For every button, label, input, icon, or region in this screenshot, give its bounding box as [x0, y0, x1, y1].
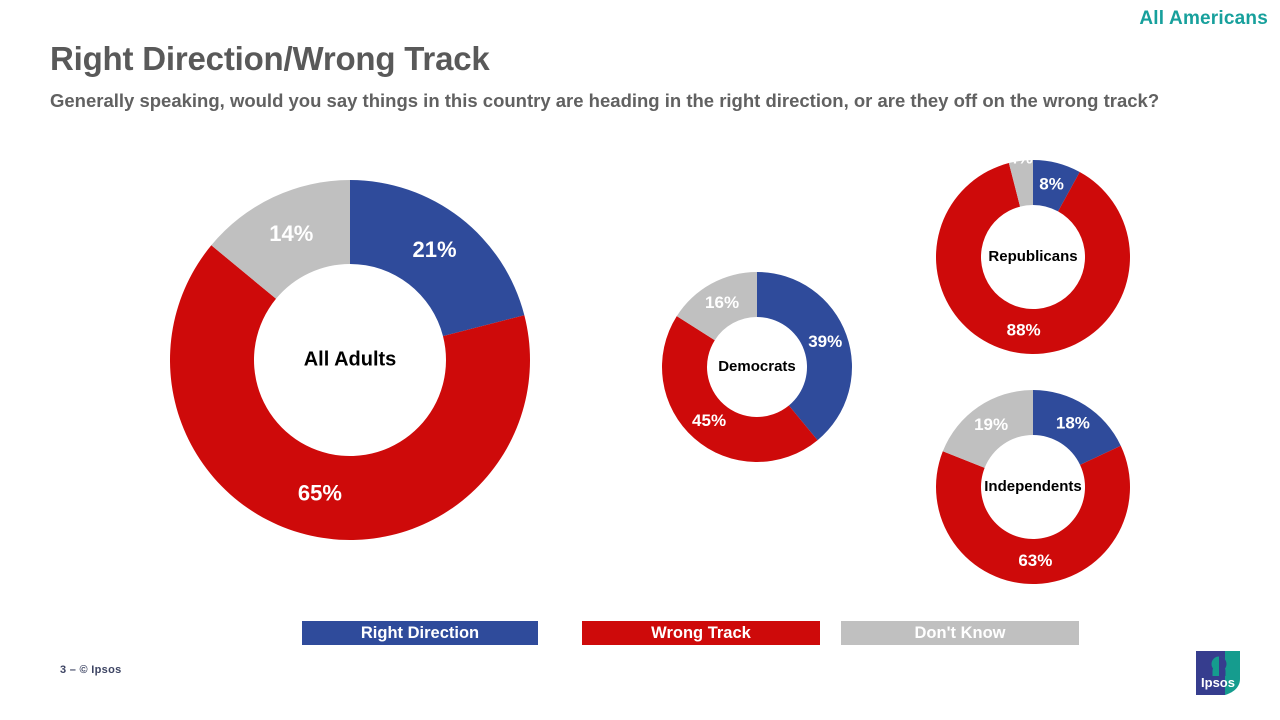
- donut-republicans: 8%88%4%Republicans: [910, 134, 1156, 380]
- slice-value-right_direction: 39%: [808, 332, 842, 351]
- donut-chart-republicans: 8%88%4%Republicans: [910, 134, 1156, 380]
- slice-value-wrong_track: 63%: [1018, 551, 1052, 570]
- donut-chart-independents: 18%63%19%Independents: [910, 364, 1156, 610]
- slice-value-wrong_track: 65%: [298, 480, 342, 505]
- svg-text:Ipsos: Ipsos: [1201, 675, 1235, 690]
- legend-item-dont-know[interactable]: Don't Know: [841, 621, 1079, 645]
- slice-value-wrong_track: 88%: [1007, 320, 1041, 339]
- footer-copyright: 3 – © Ipsos: [60, 664, 122, 676]
- chart-legend: Right Direction Wrong Track Don't Know: [0, 621, 1280, 647]
- slice-value-right_direction: 21%: [413, 237, 457, 262]
- slice-wrong_track[interactable]: [662, 316, 818, 462]
- page-title: Right Direction/Wrong Track: [50, 40, 490, 78]
- slice-value-right_direction: 8%: [1039, 174, 1064, 193]
- slice-value-right_direction: 18%: [1056, 414, 1090, 433]
- slide-canvas: All Americans Right Direction/Wrong Trac…: [0, 0, 1280, 720]
- donut-center-label: All Adults: [304, 348, 397, 370]
- slice-value-dont_know: 14%: [269, 221, 313, 246]
- donut-center-label: Independents: [984, 478, 1082, 495]
- slice-value-wrong_track: 45%: [692, 411, 726, 430]
- donut-chart-democrats: 39%45%16%Democrats: [636, 246, 878, 488]
- legend-item-right-direction[interactable]: Right Direction: [302, 621, 538, 645]
- donut-all-adults: 21%65%14%All Adults: [144, 154, 556, 566]
- question-subtitle: Generally speaking, would you say things…: [50, 88, 1230, 114]
- slice-value-dont_know: 19%: [974, 415, 1008, 434]
- slice-value-dont_know: 4%: [1008, 148, 1033, 167]
- donut-center-label: Republicans: [988, 248, 1077, 265]
- ipsos-logo: Ipsos: [1194, 649, 1244, 697]
- slice-value-dont_know: 16%: [705, 293, 739, 312]
- donut-center-label: Democrats: [718, 358, 796, 375]
- donut-chart-all-adults: 21%65%14%All Adults: [144, 154, 556, 566]
- donut-independents: 18%63%19%Independents: [910, 364, 1156, 610]
- legend-item-wrong-track[interactable]: Wrong Track: [582, 621, 820, 645]
- donut-democrats: 39%45%16%Democrats: [636, 246, 878, 488]
- audience-tag: All Americans: [1139, 8, 1268, 30]
